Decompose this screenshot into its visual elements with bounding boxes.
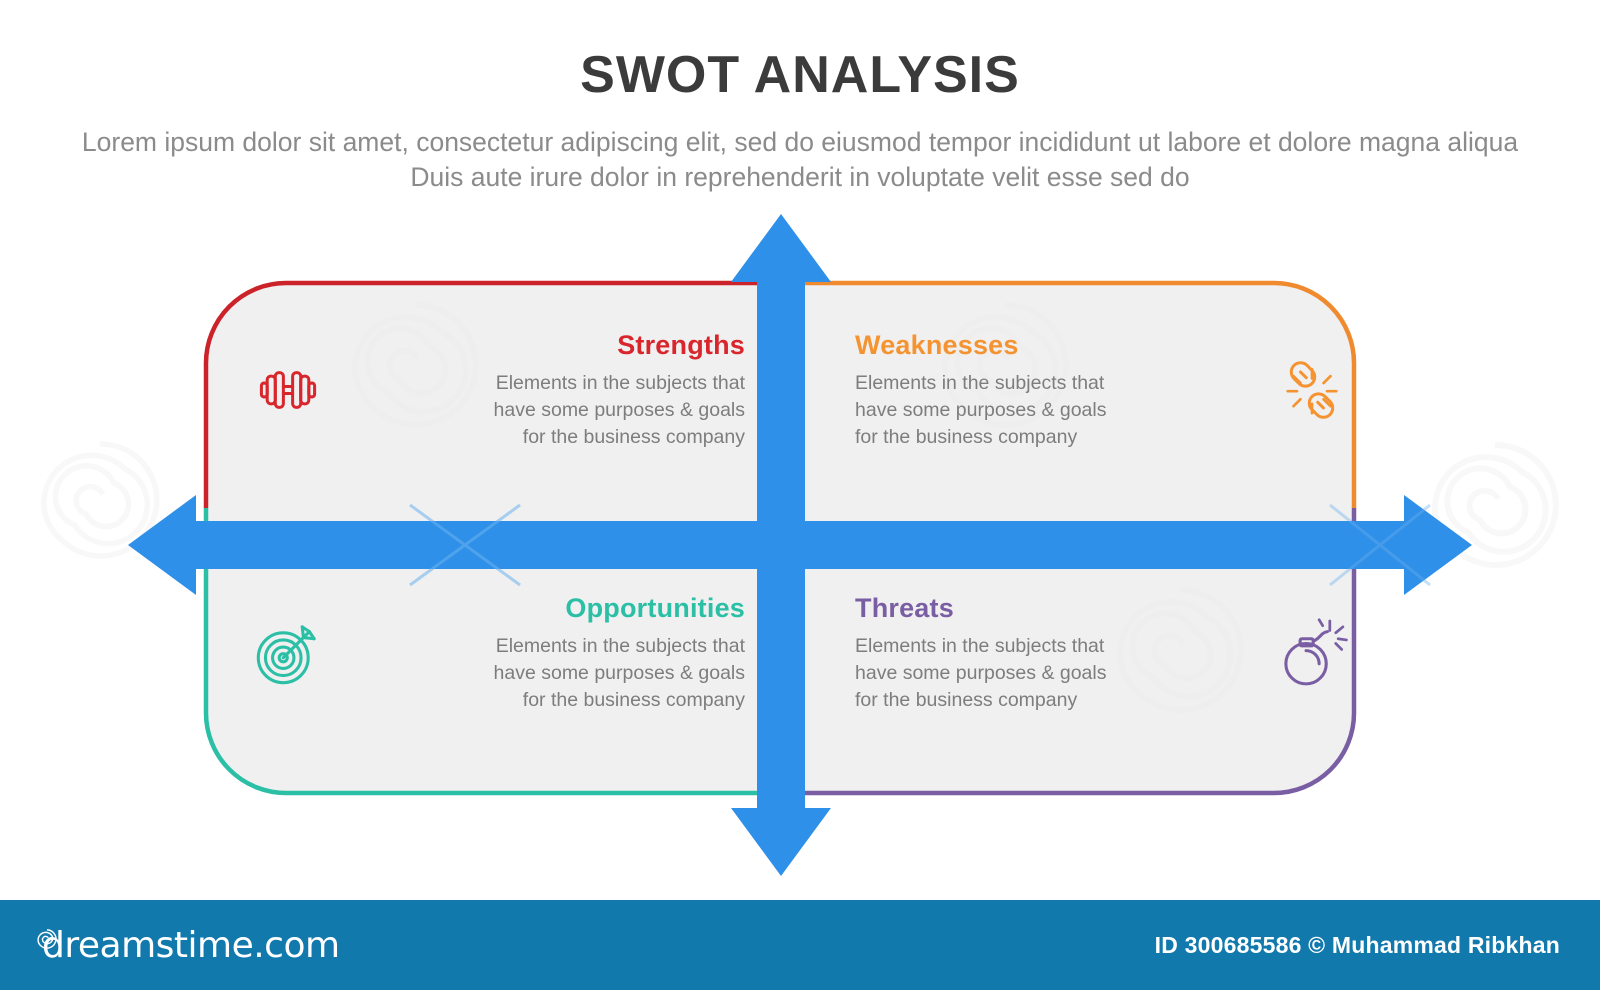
quadrant-threats[interactable]: Threats Elements in the subjects that ha… — [855, 593, 1355, 714]
quadrant-description: Elements in the subjects that have some … — [855, 633, 1269, 714]
dumbbell-icon — [245, 347, 331, 433]
quadrant-title: Threats — [855, 593, 1269, 624]
page-header: SWOT ANALYSIS Lorem ipsum dolor sit amet… — [0, 0, 1600, 195]
target-arrow-icon — [245, 610, 331, 696]
broken-chain-icon — [1269, 347, 1355, 433]
quadrant-strengths[interactable]: Strengths Elements in the subjects that … — [245, 330, 745, 451]
dreamstime-logo[interactable]: dreamstime.com — [34, 925, 340, 966]
page-title: SWOT ANALYSIS — [0, 48, 1600, 103]
quadrant-opportunities[interactable]: Opportunities Elements in the subjects t… — [245, 593, 745, 714]
footer-bar: dreamstime.com ID 300685586 © Muhammad R… — [0, 900, 1600, 990]
dreamstime-logo-text: dreamstime.com — [42, 925, 340, 966]
quadrant-description: Elements in the subjects that have some … — [855, 370, 1269, 451]
footer-credit: ID 300685586 © Muhammad Ribkhan — [1155, 932, 1560, 959]
quadrant-title: Opportunities — [331, 593, 745, 624]
page-subtitle: Lorem ipsum dolor sit amet, consectetur … — [0, 125, 1600, 195]
quadrant-description: Elements in the subjects that have some … — [331, 370, 745, 451]
quadrant-description: Elements in the subjects that have some … — [331, 633, 745, 714]
quadrant-title: Strengths — [331, 330, 745, 361]
bomb-icon — [1269, 610, 1355, 696]
quadrant-title: Weaknesses — [855, 330, 1269, 361]
quadrant-weaknesses[interactable]: Weaknesses Elements in the subjects that… — [855, 330, 1355, 451]
